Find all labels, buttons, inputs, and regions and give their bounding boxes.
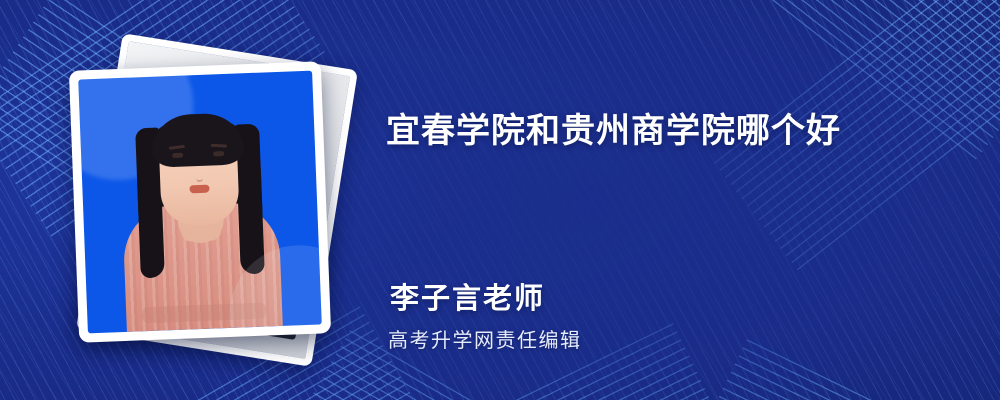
banner-headline: 宜春学院和贵州商学院哪个好 <box>386 103 841 152</box>
article-cover-banner: 宜春学院和贵州商学院哪个好 李子言老师 高考升学网责任编辑 <box>0 0 1000 400</box>
author-role: 高考升学网责任编辑 <box>388 324 582 353</box>
author-photo-card <box>69 61 331 342</box>
portrait-hair-front <box>151 113 245 168</box>
portrait-eyebrow-right <box>211 144 227 148</box>
photo-stack <box>58 44 350 360</box>
portrait-nose <box>196 171 203 181</box>
portrait-mouth <box>189 185 209 194</box>
portrait-illustration <box>78 71 322 334</box>
author-name: 李子言老师 <box>390 275 545 317</box>
id-photo <box>78 71 322 334</box>
banner-text-column: 宜春学院和贵州商学院哪个好 李子言老师 高考升学网责任编辑 <box>386 0 976 400</box>
